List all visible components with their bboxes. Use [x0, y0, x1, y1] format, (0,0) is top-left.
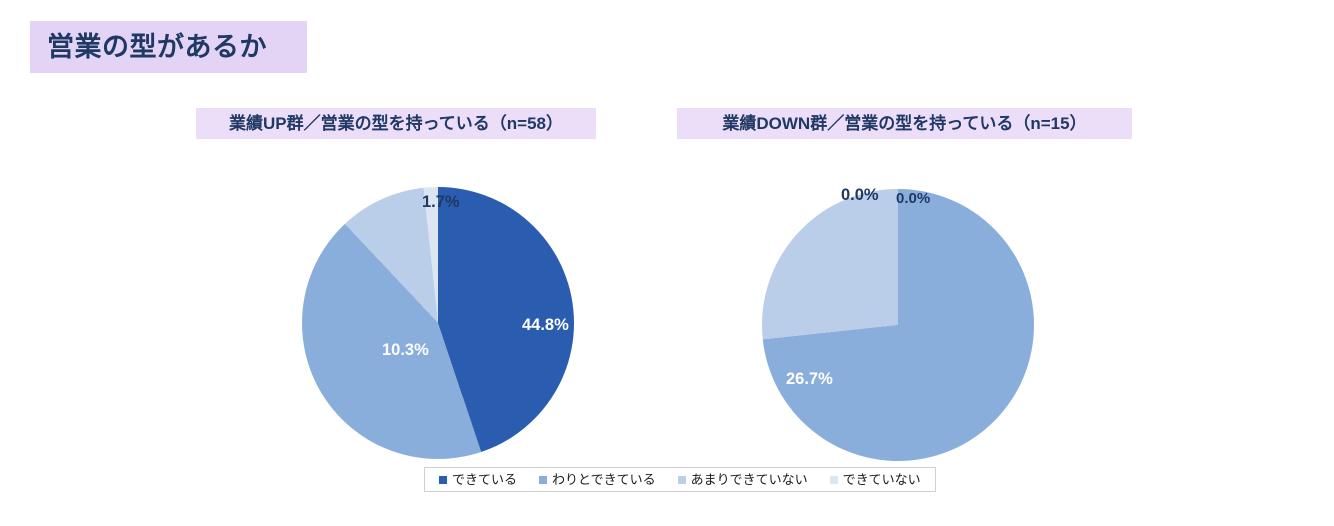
pie-slice-label-down-1: 73.3% — [880, 497, 927, 514]
pie-slice-label-down-0: 0.0% — [896, 191, 930, 206]
legend-swatch-icon-1 — [539, 476, 547, 484]
pie-area-up-group: 44.8% 43.1% 10.3% 1.7% — [196, 139, 596, 469]
pie-slice-label-down-2: 26.7% — [786, 371, 833, 388]
legend-label-0: できている — [452, 473, 517, 486]
chart-title-badge-up-group: 業績UP群／営業の型を持っている（n=58） — [196, 108, 596, 139]
legend-swatch-icon-0 — [439, 476, 447, 484]
legend-label-3: できていない — [843, 473, 921, 486]
chart-title-down-group: 業績DOWN群／営業の型を持っている（n=15） — [722, 115, 1086, 132]
legend-label-1: わりとできている — [552, 473, 656, 486]
legend-item-0[interactable]: できている — [439, 473, 517, 486]
legend-swatch-icon-2 — [678, 476, 686, 484]
legend-label-2: あまりできていない — [691, 473, 808, 486]
legend-item-2[interactable]: あまりできていない — [678, 473, 808, 486]
pie-slice-label-down-3: 0.0% — [841, 187, 879, 204]
chart-panel-up-group: 業績UP群／営業の型を持っている（n=58） 44.8% 43.1% 10.3%… — [196, 108, 596, 469]
legend-item-1[interactable]: わりとできている — [539, 473, 656, 486]
pie-slice-label-up-3: 1.7% — [422, 194, 460, 211]
legend-swatch-icon-3 — [830, 476, 838, 484]
pie-slice-label-up-0: 44.8% — [522, 317, 569, 334]
pie-chart-down-group — [762, 189, 1034, 461]
legend-item-3[interactable]: できていない — [830, 473, 921, 486]
pie-slice-label-up-2: 10.3% — [382, 342, 429, 359]
chart-title-badge-down-group: 業績DOWN群／営業の型を持っている（n=15） — [677, 108, 1132, 139]
page-title-badge: 営業の型があるか — [30, 21, 307, 73]
pie-area-down-group: 0.0% 73.3% 26.7% 0.0% — [677, 139, 1132, 469]
chart-title-up-group: 業績UP群／営業の型を持っている（n=58） — [229, 115, 563, 132]
chart-panel-down-group: 業績DOWN群／営業の型を持っている（n=15） 0.0% 73.3% 26.7… — [677, 108, 1132, 469]
page-title: 営業の型があるか — [47, 34, 267, 61]
pie-slice-label-up-1: 43.1% — [336, 487, 383, 504]
chart-legend: できている わりとできている あまりできていない できていない — [424, 467, 936, 492]
